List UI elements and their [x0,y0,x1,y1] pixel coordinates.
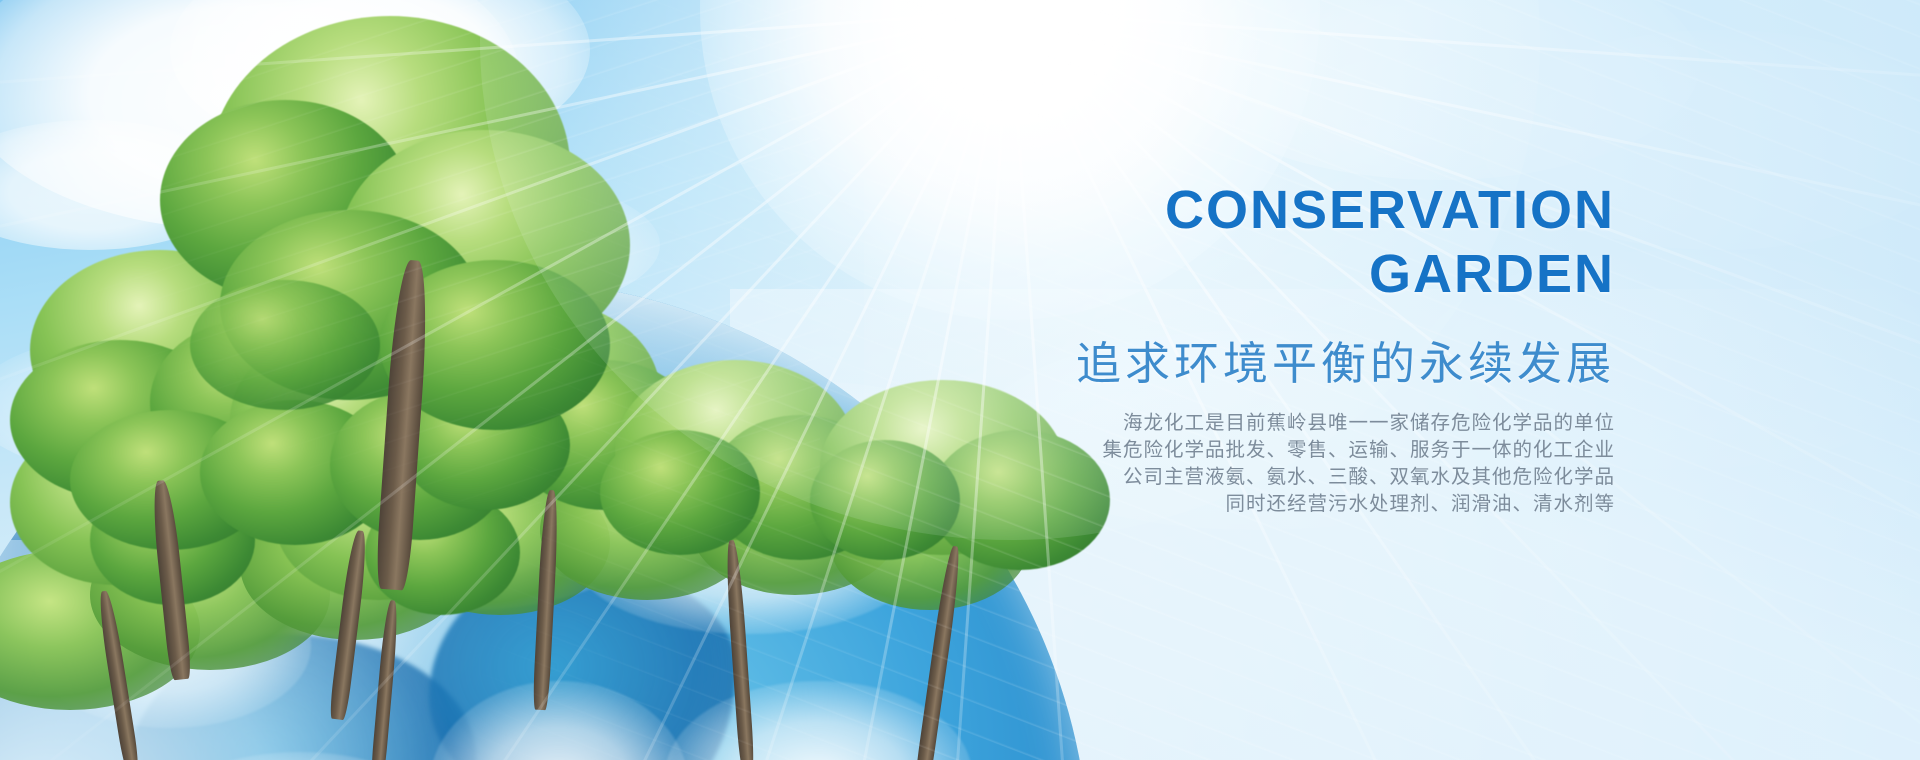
banner-title-line-2: GARDEN [855,242,1615,306]
banner-title-line-1: CONSERVATION [855,178,1615,242]
description-line-1: 海龙化工是目前蕉岭县唯一一家储存危险化学品的单位 [855,410,1615,437]
hero-banner: CONSERVATION GARDEN 追求环境平衡的永续发展 海龙化工是目前蕉… [0,0,1920,760]
description-line-2: 集危险化学品批发、零售、运输、服务于一体的化工企业 [855,437,1615,464]
banner-subtitle-chinese: 追求环境平衡的永续发展 [855,336,1615,392]
description-line-4: 同时还经营污水处理剂、润滑油、清水剂等 [855,491,1615,518]
banner-text-panel: CONSERVATION GARDEN 追求环境平衡的永续发展 海龙化工是目前蕉… [855,178,1615,518]
description-line-3: 公司主营液氨、氨水、三酸、双氧水及其他危险化学品 [855,464,1615,491]
banner-description: 海龙化工是目前蕉岭县唯一一家储存危险化学品的单位 集危险化学品批发、零售、运输、… [855,410,1615,518]
